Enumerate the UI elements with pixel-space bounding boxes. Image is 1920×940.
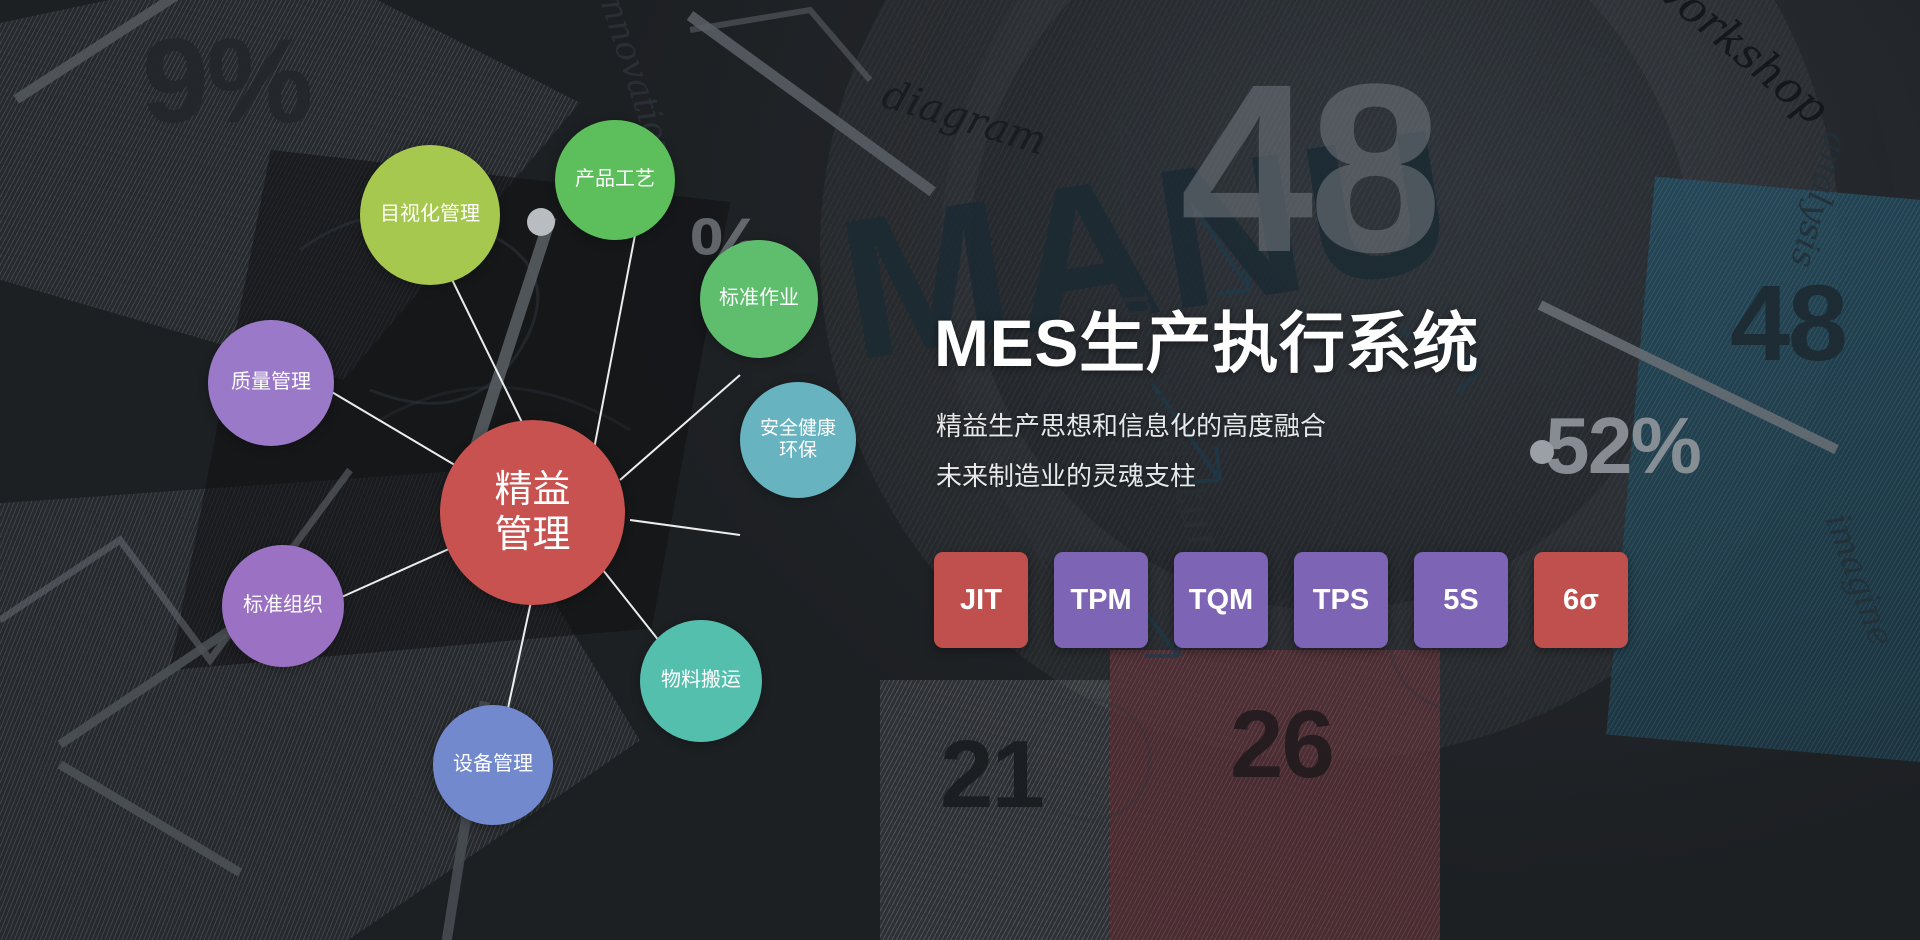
methodology-badge-row: JIT TPM TQM TPS 5S 6σ [934,552,1628,648]
badge-6sigma[interactable]: 6σ [1534,552,1628,648]
badge-label: JIT [960,584,1002,617]
node-label-line1: 安全健康 [760,418,836,440]
node-label: 质量管理 [231,371,311,395]
subtitle-line-1: 精益生产思想和信息化的高度融合 [936,406,1326,443]
center-label-line2: 管理 [494,513,570,558]
badge-tqm[interactable]: TQM [1174,552,1268,648]
diagram-node-material-handling[interactable]: 物料搬运 [640,620,762,742]
diagram-node-standard-work[interactable]: 标准作业 [700,240,818,358]
banner-content: MES生产执行系统 精益生产思想和信息化的高度融合 未来制造业的灵魂支柱 JIT… [934,0,1920,940]
node-label: 标准组织 [243,594,323,618]
diagram-handle-dot [527,208,555,236]
badge-label: TPM [1070,584,1131,617]
diagram-node-product-process[interactable]: 产品工艺 [555,120,675,240]
badge-tps[interactable]: TPS [1294,552,1388,648]
connector-line [620,375,740,480]
node-label: 设备管理 [453,753,533,777]
diagram-node-visual-management[interactable]: 目视化管理 [360,145,500,285]
badge-label: TQM [1189,584,1253,617]
banner-stage: MANU 9% 48 48 52% 21 26 % diagram worksh… [0,0,1920,940]
lean-management-bubble-diagram: 精益 管理 目视化管理 产品工艺 标准作业 安全健康 环保 物料搬运 设备管理 [0,0,960,940]
diagram-node-center[interactable]: 精益 管理 [440,420,625,605]
badge-label: 5S [1443,584,1478,617]
diagram-node-equipment-management[interactable]: 设备管理 [433,705,553,825]
badge-jit[interactable]: JIT [934,552,1028,648]
center-label-line1: 精益 [494,468,570,513]
diagram-node-standard-organization[interactable]: 标准组织 [222,545,344,667]
page-title: MES生产执行系统 [934,290,1479,386]
connector-line [630,520,740,535]
subtitle-line-2: 未来制造业的灵魂支柱 [936,456,1196,493]
diagram-node-quality-management[interactable]: 质量管理 [208,320,334,446]
node-label: 产品工艺 [575,168,655,192]
node-label-line2: 环保 [760,440,836,462]
node-label: 目视化管理 [380,203,480,227]
badge-label: 6σ [1563,584,1599,617]
badge-label: TPS [1313,584,1369,617]
badge-5s[interactable]: 5S [1414,552,1508,648]
badge-tpm[interactable]: TPM [1054,552,1148,648]
diagram-node-safety-health-environment[interactable]: 安全健康 环保 [740,382,856,498]
node-label: 标准作业 [719,287,799,311]
node-label: 物料搬运 [661,669,741,693]
connector-line [590,235,635,470]
